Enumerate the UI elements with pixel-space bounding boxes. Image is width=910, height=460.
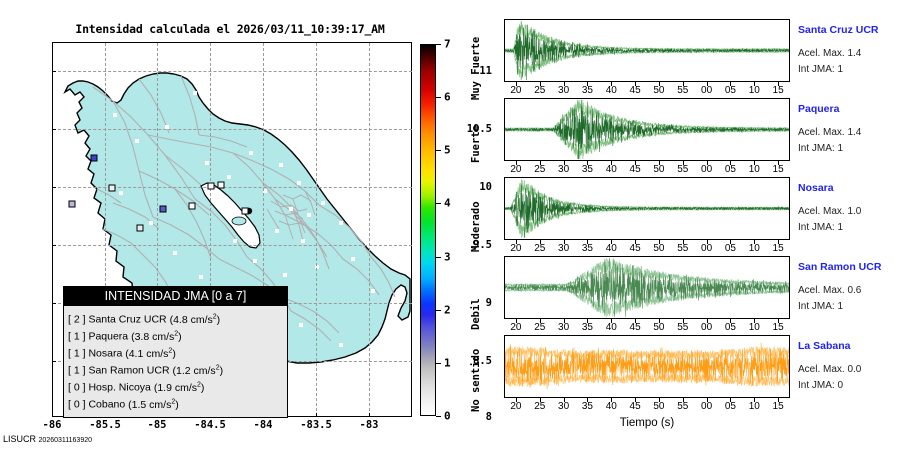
waveform-panel-la-sabana[interactable] xyxy=(504,335,790,398)
legend-row: [ 1 ] Paquera (3.8 cm/s2) xyxy=(68,327,287,344)
legend-accel: (3.8 cm/s2) xyxy=(131,331,182,343)
waveform-tick-label: 35 xyxy=(574,164,600,175)
colorbar-label: 2 xyxy=(444,304,451,317)
waveform-panel-santa-cruz-ucr[interactable] xyxy=(504,19,790,82)
map-ytick xyxy=(52,129,56,130)
map-title: Intensidad calculada el 2026/03/11_10:39… xyxy=(0,22,460,36)
waveform-tick-label: 10 xyxy=(741,401,767,412)
waveform-tick-label: 15 xyxy=(765,243,791,254)
map-ytick xyxy=(52,71,56,72)
legend-rows: [ 2 ] Santa Cruz UCR (4.8 cm/s2) [ 1 ] P… xyxy=(64,306,287,417)
map-xlabel: -86 xyxy=(22,419,82,431)
station-marker-nosara[interactable] xyxy=(69,201,76,208)
waveform-trace-0 xyxy=(505,20,789,81)
waveform-tick-label: 05 xyxy=(717,322,743,333)
map-xlabel: -83 xyxy=(339,419,399,431)
legend-station: Paquera xyxy=(88,331,128,343)
legend-station: Nosara xyxy=(88,348,122,360)
waveform-tick-label: 55 xyxy=(670,243,696,254)
station-marker-san-ramon-ucr[interactable] xyxy=(208,183,215,190)
waveform-tick-label: 25 xyxy=(527,243,553,254)
colorbar-label: 4 xyxy=(444,197,451,210)
waveform-tick-label: 35 xyxy=(574,401,600,412)
colorbar-category-debil: Debil xyxy=(470,298,482,330)
waveform-trace-2 xyxy=(505,178,789,239)
waveform-tick-label: 40 xyxy=(598,243,624,254)
map-ylabel: 8 xyxy=(448,411,492,423)
legend-row: [ 0 ] Hosp. Nicoya (1.9 cm/s2) xyxy=(68,378,287,395)
waveform-trace-3 xyxy=(505,257,789,318)
colorbar-tick xyxy=(436,310,441,311)
legend-row: [ 1 ] Nosara (4.1 cm/s2) xyxy=(68,344,287,361)
watermark-org: LISUCR xyxy=(3,434,36,444)
station-jma-0: Int JMA: 1 xyxy=(798,64,843,75)
legend-title: INTENSIDAD JMA [0 a 7] xyxy=(64,287,287,306)
watermark: LISUCR 20260311163920 xyxy=(3,434,92,444)
colorbar-category-muy-fuerte: Muy Fuerte xyxy=(470,37,482,100)
legend-accel: (1.5 cm/s2) xyxy=(128,399,179,411)
waveform-tick-label: 10 xyxy=(741,243,767,254)
waveform-tick-label: 40 xyxy=(598,164,624,175)
station-accel-4: Acel. Max. 0.0 xyxy=(798,364,861,375)
map-gridline-h xyxy=(53,129,412,130)
station-label-la-sabana: La Sabana xyxy=(798,340,851,352)
colorbar-tick xyxy=(436,44,441,45)
waveform-tick-label: 35 xyxy=(574,85,600,96)
waveform-tick-label: 25 xyxy=(527,85,553,96)
legend-row: [ 2 ] Santa Cruz UCR (4.8 cm/s2) xyxy=(68,310,287,327)
colorbar-label: 0 xyxy=(444,410,451,423)
station-marker-paquera[interactable] xyxy=(160,206,167,213)
legend-level: [ 1 ] xyxy=(68,348,86,360)
waveform-xaxis-title: Tiempo (s) xyxy=(504,417,790,429)
map-xlabel: -83.5 xyxy=(286,419,346,431)
map-xtick xyxy=(369,413,370,417)
colorbar-tick xyxy=(436,257,441,258)
station-accel-1: Acel. Max. 1.4 xyxy=(798,127,861,138)
colorbar-tick xyxy=(436,150,441,151)
waveform-tick-label: 00 xyxy=(694,322,720,333)
isla-chira xyxy=(232,217,246,225)
waveform-tick-label: 55 xyxy=(670,85,696,96)
waveform-tick-label: 55 xyxy=(670,322,696,333)
station-marker-extra-1[interactable] xyxy=(218,182,225,189)
waveform-tick-label: 05 xyxy=(717,85,743,96)
station-label-santa-cruz-ucr: Santa Cruz UCR xyxy=(798,24,879,36)
waveform-tick-label: 25 xyxy=(527,322,553,333)
waveform-tick-label: 15 xyxy=(765,401,791,412)
station-marker-extra-3[interactable] xyxy=(242,208,249,215)
intensity-colorbar xyxy=(420,44,436,416)
map-gridline-h xyxy=(53,71,412,72)
waveform-tick-label: 25 xyxy=(527,164,553,175)
colorbar-label: 3 xyxy=(444,251,451,264)
waveform-tick-label: 15 xyxy=(765,322,791,333)
station-marker-hosp-nicoya[interactable] xyxy=(109,185,116,192)
map-xtick xyxy=(316,413,317,417)
station-jma-2: Int JMA: 1 xyxy=(798,222,843,233)
waveform-tick-label: 15 xyxy=(765,85,791,96)
waveform-panel-paquera[interactable] xyxy=(504,98,790,161)
legend-row: [ 0 ] Cobano (1.5 cm/s2) xyxy=(68,395,287,412)
station-label-san-ramon-ucr: San Ramon UCR xyxy=(798,261,881,273)
waveform-trace-1 xyxy=(505,99,789,160)
waveform-tick-label: 45 xyxy=(622,401,648,412)
waveform-trace-4 xyxy=(505,336,789,397)
waveform-tick-label: 45 xyxy=(622,243,648,254)
waveform-tick-label: 00 xyxy=(694,401,720,412)
station-marker-cobano[interactable] xyxy=(137,225,144,232)
station-accel-2: Acel. Max. 1.0 xyxy=(798,206,861,217)
map-ytick xyxy=(52,303,56,304)
watermark-id: 20260311163920 xyxy=(39,437,92,444)
waveform-tick-label: 30 xyxy=(551,243,577,254)
waveform-tick-label: 30 xyxy=(551,401,577,412)
legend-level: [ 1 ] xyxy=(68,331,86,343)
waveform-tick-label: 30 xyxy=(551,164,577,175)
station-jma-3: Int JMA: 1 xyxy=(798,301,843,312)
map-gridline-h xyxy=(53,187,412,188)
waveform-tick-label: 05 xyxy=(717,401,743,412)
waveform-axis-1: 202530354045505500051015 xyxy=(504,161,790,177)
waveform-tick-label: 25 xyxy=(527,401,553,412)
waveform-tick-label: 05 xyxy=(717,243,743,254)
station-accel-0: Acel. Max. 1.4 xyxy=(798,48,861,59)
colorbar-label: 5 xyxy=(444,144,451,157)
waveform-tick-label: 20 xyxy=(503,243,529,254)
waveform-tick-label: 00 xyxy=(694,85,720,96)
waveform-tick-label: 40 xyxy=(598,401,624,412)
map-xlabel: -84.5 xyxy=(180,419,240,431)
waveform-tick-label: 30 xyxy=(551,85,577,96)
waveform-tick-label: 05 xyxy=(717,164,743,175)
map-ylabel: 10 xyxy=(448,181,492,193)
map-ytick xyxy=(52,187,56,188)
waveform-panel-nosara[interactable] xyxy=(504,177,790,240)
colorbar-category-no-sentido: No sentido xyxy=(470,349,482,412)
waveform-axis-0: 202530354045505500051015 xyxy=(504,82,790,98)
station-jma-1: Int JMA: 1 xyxy=(798,143,843,154)
legend-accel: (1.9 cm/s2) xyxy=(154,382,205,394)
waveform-tick-label: 40 xyxy=(598,85,624,96)
waveform-tick-label: 45 xyxy=(622,164,648,175)
waveform-tick-label: 20 xyxy=(503,322,529,333)
colorbar-label: 7 xyxy=(444,38,451,51)
waveform-tick-label: 35 xyxy=(574,322,600,333)
station-accel-3: Acel. Max. 0.6 xyxy=(798,285,861,296)
colorbar-tick xyxy=(436,97,441,98)
station-jma-4: Int JMA: 0 xyxy=(798,380,843,391)
waveform-tick-label: 10 xyxy=(741,322,767,333)
waveform-tick-label: 45 xyxy=(622,322,648,333)
waveform-tick-label: 20 xyxy=(503,164,529,175)
waveform-panel-san-ramon-ucr[interactable] xyxy=(504,256,790,319)
waveform-tick-label: 15 xyxy=(765,164,791,175)
legend-level: [ 0 ] xyxy=(68,382,86,394)
legend-station: Cobano xyxy=(88,399,125,411)
map-xlabel: -84 xyxy=(233,419,293,431)
waveform-tick-label: 35 xyxy=(574,243,600,254)
legend-station: San Ramon UCR xyxy=(88,365,169,377)
station-marker-extra-2[interactable] xyxy=(189,203,196,210)
waveform-tick-label: 50 xyxy=(646,401,672,412)
waveform-tick-label: 50 xyxy=(646,322,672,333)
colorbar-category-moderado: Moderado xyxy=(470,201,482,252)
map-xlabel: -85.5 xyxy=(75,419,135,431)
station-marker-santa-cruz-ucr[interactable] xyxy=(91,155,98,162)
waveform-tick-label: 50 xyxy=(646,164,672,175)
map-gridline-h xyxy=(53,245,412,246)
legend-row: [ 1 ] San Ramon UCR (1.2 cm/s2) xyxy=(68,361,287,378)
waveform-tick-label: 50 xyxy=(646,85,672,96)
waveform-axis-4: 202530354045505500051015 xyxy=(504,398,790,414)
legend-station: Santa Cruz UCR xyxy=(88,314,166,326)
waveform-tick-label: 10 xyxy=(741,164,767,175)
waveform-tick-label: 20 xyxy=(503,85,529,96)
legend-level: [ 1 ] xyxy=(68,365,86,377)
legend-level: [ 0 ] xyxy=(68,399,86,411)
waveform-axis-2: 202530354045505500051015 xyxy=(504,240,790,256)
waveform-tick-label: 45 xyxy=(622,85,648,96)
legend-accel: (1.2 cm/s2) xyxy=(172,365,223,377)
station-label-nosara: Nosara xyxy=(798,182,834,194)
map-ytick xyxy=(52,245,56,246)
waveform-tick-label: 00 xyxy=(694,243,720,254)
waveform-tick-label: 40 xyxy=(598,322,624,333)
colorbar-label: 1 xyxy=(444,357,451,370)
legend-level: [ 2 ] xyxy=(68,314,86,326)
intensity-legend-box: INTENSIDAD JMA [0 a 7] [ 2 ] Santa Cruz … xyxy=(63,286,288,418)
waveform-tick-label: 00 xyxy=(694,164,720,175)
station-label-paquera: Paquera xyxy=(798,103,839,115)
legend-accel: (4.8 cm/s2) xyxy=(170,314,221,326)
waveform-tick-label: 50 xyxy=(646,243,672,254)
waveform-tick-label: 55 xyxy=(670,401,696,412)
waveform-tick-label: 20 xyxy=(503,401,529,412)
colorbar-tick xyxy=(436,363,441,364)
waveform-tick-label: 55 xyxy=(670,164,696,175)
colorbar-tick xyxy=(436,203,441,204)
legend-accel: (4.1 cm/s2) xyxy=(125,348,176,360)
map-ytick xyxy=(52,361,56,362)
colorbar-tick xyxy=(436,416,441,417)
waveform-tick-label: 30 xyxy=(551,322,577,333)
waveform-axis-3: 202530354045505500051015 xyxy=(504,319,790,335)
map-xlabel: -85 xyxy=(127,419,187,431)
colorbar-label: 6 xyxy=(444,91,451,104)
waveform-tick-label: 10 xyxy=(741,85,767,96)
colorbar-category-fuerte: Fuerte xyxy=(470,125,482,163)
legend-station: Hosp. Nicoya xyxy=(88,382,150,394)
